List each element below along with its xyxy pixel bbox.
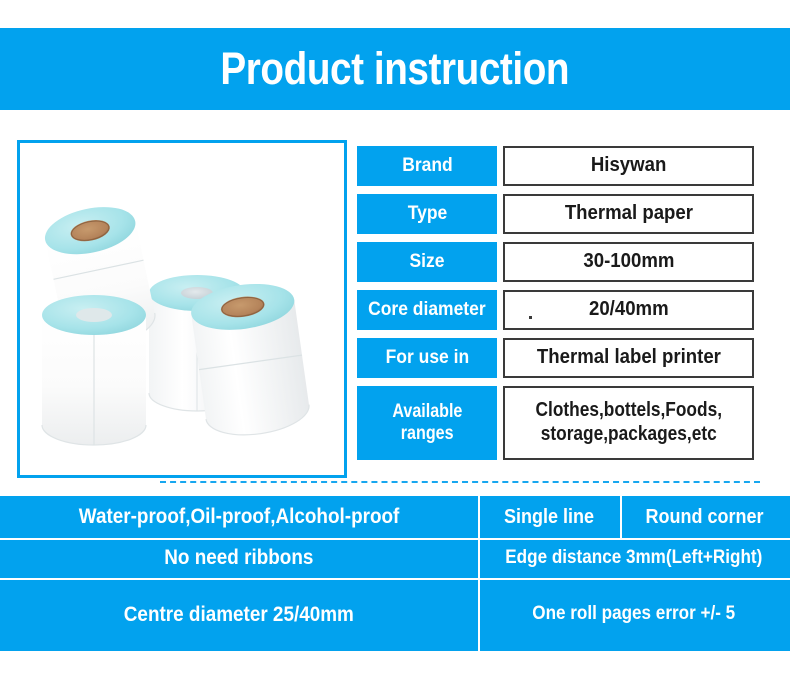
spec-value-available-ranges: Clothes,bottels,Foods, storage,packages,… [503,386,754,460]
spec-label-for-use-in-text: For use in [385,347,469,369]
spec-value-type: Thermal paper [503,194,754,234]
spec-row-available-ranges: Available ranges Clothes,bottels,Foods, … [357,386,754,460]
feature-row-1: Water-proof,Oil-proof,Alcohol-proof Sing… [0,496,790,538]
spec-value-size: 30-100mm [503,242,754,282]
header-banner: Product instruction [0,28,790,110]
spec-label-size: Size [357,242,497,282]
specification-table: Brand Hisywan Type Thermal paper Size 30… [357,146,754,468]
feature-cell-no-ribbons: No need ribbons [0,538,478,578]
feature-cell-edge-distance: Edge distance 3mm(Left+Right) [478,538,790,578]
page-title: Product instruction [221,43,570,95]
spec-label-type: Type [357,194,497,234]
feature-table-vline-main [478,496,480,651]
label-roll-bottom-left [42,295,146,445]
feature-cell-waterproof: Water-proof,Oil-proof,Alcohol-proof [0,496,478,538]
feature-row-3: Centre diameter 25/40mm One roll pages e… [0,578,790,651]
spec-value-type-text: Thermal paper [564,202,692,226]
feature-cell-no-ribbons-text: No need ribbons [164,546,313,569]
spec-row-brand: Brand Hisywan [357,146,754,186]
spec-value-available-ranges-line2: storage,packages,etc [541,423,717,447]
spec-label-available-ranges-line2: ranges [401,423,454,445]
feature-cell-round-corner-text: Round corner [646,506,764,528]
spec-label-size-text: Size [410,251,445,273]
spec-label-type-text: Type [407,203,447,225]
spec-value-size-text: 30-100mm [583,250,674,274]
spec-row-type: Type Thermal paper [357,194,754,234]
spec-row-size: Size 30-100mm [357,242,754,282]
feature-cell-centre-diameter-text: Centre diameter 25/40mm [124,603,354,626]
spec-label-core-diameter: Core diameter [357,290,497,330]
spec-value-core-diameter-text: 20/40mm [589,298,669,322]
dashed-divider [160,481,760,483]
spec-value-available-ranges-text: Clothes,bottels,Foods, storage,packages,… [528,399,728,446]
product-instruction-page: Product instruction [0,0,790,675]
spec-row-for-use-in: For use in Thermal label printer [357,338,754,378]
feature-cell-single-line-text: Single line [504,506,594,528]
spec-value-brand-text: Hisywan [591,154,666,178]
spec-row-core-diameter: Core diameter 20/40mm [357,290,754,330]
feature-cell-single-line: Single line [478,496,620,538]
spec-label-available-ranges: Available ranges [357,386,497,460]
feature-table: Water-proof,Oil-proof,Alcohol-proof Sing… [0,496,790,651]
spec-label-for-use-in: For use in [357,338,497,378]
feature-table-hline-2 [0,578,790,580]
feature-cell-pages-error-text: One roll pages error +/- 5 [533,604,736,625]
spec-label-available-ranges-text: Available ranges [389,401,465,445]
feature-cell-waterproof-text: Water-proof,Oil-proof,Alcohol-proof [79,505,400,528]
product-image-panel [17,140,347,478]
feature-cell-pages-error: One roll pages error +/- 5 [478,578,790,651]
label-roll-right [188,278,312,441]
spec-value-available-ranges-line1: Clothes,bottels,Foods, [535,399,721,423]
feature-cell-round-corner: Round corner [620,496,790,538]
spec-label-available-ranges-line1: Available [392,401,462,423]
spec-label-brand-text: Brand [402,155,453,177]
feature-table-hline-1 [0,538,790,540]
feature-row-2: No need ribbons Edge distance 3mm(Left+R… [0,538,790,578]
thermal-label-rolls-image [20,143,344,475]
spec-value-brand: Hisywan [503,146,754,186]
feature-table-vline-row1 [620,496,622,538]
spec-value-for-use-in: Thermal label printer [503,338,754,378]
spec-label-core-diameter-text: Core diameter [368,299,486,321]
spec-value-for-use-in-text: Thermal label printer [537,346,721,370]
spec-label-brand: Brand [357,146,497,186]
feature-cell-centre-diameter: Centre diameter 25/40mm [0,578,478,651]
feature-cell-edge-distance-text: Edge distance 3mm(Left+Right) [505,548,762,569]
spec-value-core-diameter: 20/40mm [503,290,754,330]
